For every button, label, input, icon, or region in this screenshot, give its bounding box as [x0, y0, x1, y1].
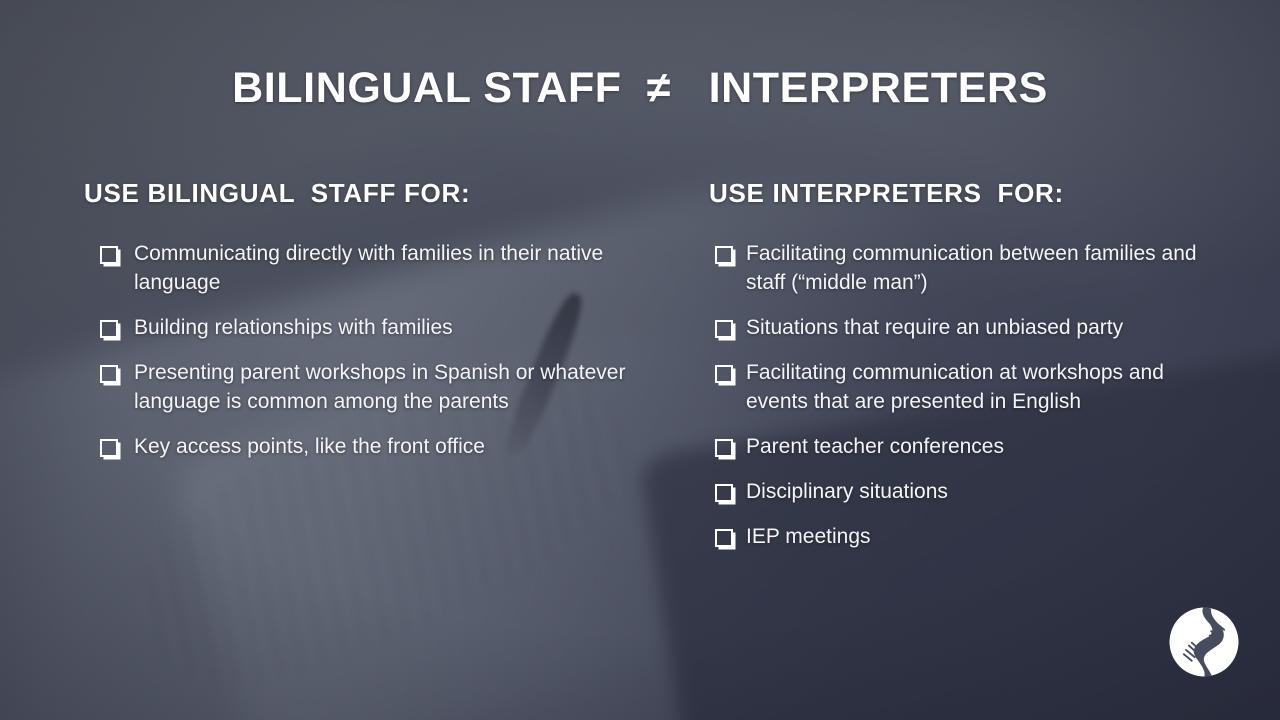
list-item-label: Building relationships with families	[134, 313, 644, 342]
hollow-square-bullet-icon	[715, 320, 733, 338]
list-item-label: Situations that require an unbiased part…	[746, 313, 1209, 342]
two-hands-circle-logo	[1168, 606, 1240, 678]
presentation-slide: BILINGUAL STAFF ≠ INTERPRETERS USE BILIN…	[0, 0, 1280, 720]
list-item-label: Key access points, like the front office	[134, 432, 644, 461]
slide-title: BILINGUAL STAFF ≠ INTERPRETERS	[0, 64, 1280, 113]
slide-content: BILINGUAL STAFF ≠ INTERPRETERS USE BILIN…	[0, 0, 1280, 720]
hollow-square-bullet-icon	[100, 365, 118, 383]
hollow-square-bullet-icon	[100, 320, 118, 338]
list-item-label: Presenting parent workshops in Spanish o…	[134, 358, 644, 416]
hollow-square-bullet-icon	[715, 484, 733, 502]
hollow-square-bullet-icon	[715, 246, 733, 264]
list-item-label: Disciplinary situations	[746, 477, 1209, 506]
list-item: Facilitating communication at workshops …	[709, 358, 1209, 416]
list-item: Facilitating communication between famil…	[709, 239, 1209, 297]
list-item: Building relationships with families	[84, 313, 644, 342]
list-item-label: IEP meetings	[746, 522, 1209, 551]
list-item: Communicating directly with families in …	[84, 239, 644, 297]
list-item-label: Communicating directly with families in …	[134, 239, 644, 297]
left-column: USE BILINGUAL STAFF FOR: Communicating d…	[84, 178, 644, 477]
list-item: Disciplinary situations	[709, 477, 1209, 506]
hollow-square-bullet-icon	[715, 365, 733, 383]
list-item: Situations that require an unbiased part…	[709, 313, 1209, 342]
left-column-heading: USE BILINGUAL STAFF FOR:	[84, 178, 644, 209]
hollow-square-bullet-icon	[715, 529, 733, 547]
list-item: Key access points, like the front office	[84, 432, 644, 461]
left-bullet-list: Communicating directly with families in …	[84, 239, 644, 461]
right-column-heading: USE INTERPRETERS FOR:	[709, 178, 1209, 209]
list-item: Presenting parent workshops in Spanish o…	[84, 358, 644, 416]
right-column: USE INTERPRETERS FOR: Facilitating commu…	[709, 178, 1209, 567]
right-bullet-list: Facilitating communication between famil…	[709, 239, 1209, 551]
hollow-square-bullet-icon	[100, 439, 118, 457]
hollow-square-bullet-icon	[715, 439, 733, 457]
list-item: IEP meetings	[709, 522, 1209, 551]
list-item-label: Facilitating communication between famil…	[746, 239, 1209, 297]
list-item: Parent teacher conferences	[709, 432, 1209, 461]
list-item-label: Facilitating communication at workshops …	[746, 358, 1209, 416]
hollow-square-bullet-icon	[100, 246, 118, 264]
list-item-label: Parent teacher conferences	[746, 432, 1209, 461]
